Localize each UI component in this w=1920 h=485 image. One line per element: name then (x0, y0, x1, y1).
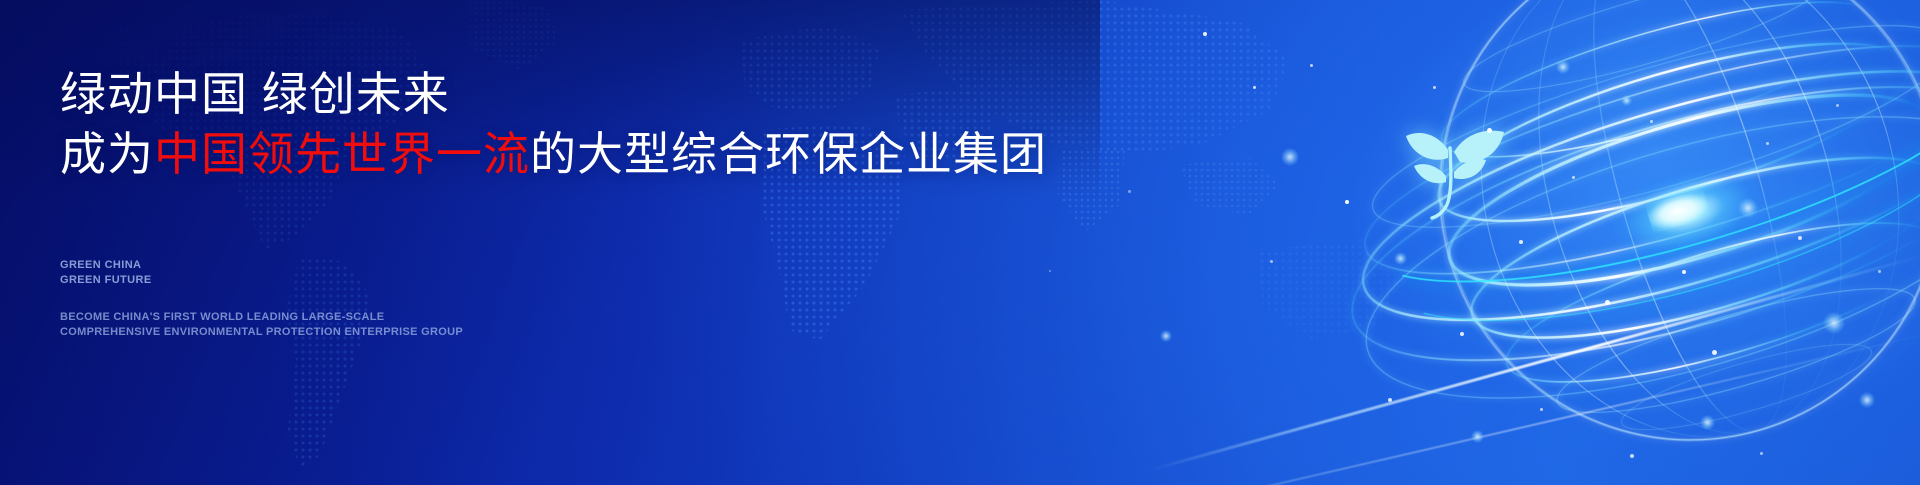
english-tagline: GREEN CHINA GREEN FUTURE (60, 258, 152, 287)
globe-graphic (1380, 0, 1920, 485)
tagline-line-1: GREEN CHINA (60, 258, 152, 273)
description-line-2: COMPREHENSIVE ENVIRONMENTAL PROTECTION E… (60, 325, 463, 340)
description-line-1: BECOME CHINA'S FIRST WORLD LEADING LARGE… (60, 310, 463, 325)
headline-prefix: 成为 (60, 128, 154, 180)
light-streak (1149, 255, 1920, 472)
headline-line-2: 成为中国领先世界一流的大型综合环保企业集团 (60, 126, 1120, 182)
english-description: BECOME CHINA'S FIRST WORLD LEADING LARGE… (60, 310, 463, 339)
light-streak-secondary (1082, 330, 1920, 485)
headline-line-1: 绿动中国 绿创未来 (60, 66, 1120, 122)
core-light-core (1645, 188, 1711, 233)
headline-highlight: 中国领先世界一流 (154, 128, 530, 180)
tagline-line-2: GREEN FUTURE (60, 273, 152, 288)
hero-banner: 绿动中国 绿创未来 成为中国领先世界一流的大型综合环保企业集团 GREEN CH… (0, 0, 1920, 485)
headline-block: 绿动中国 绿创未来 成为中国领先世界一流的大型综合环保企业集团 (60, 66, 1120, 182)
headline-suffix: 的大型综合环保企业集团 (530, 128, 1047, 180)
core-light-burst (1604, 156, 1769, 270)
green-sprout-icon (1392, 110, 1510, 222)
